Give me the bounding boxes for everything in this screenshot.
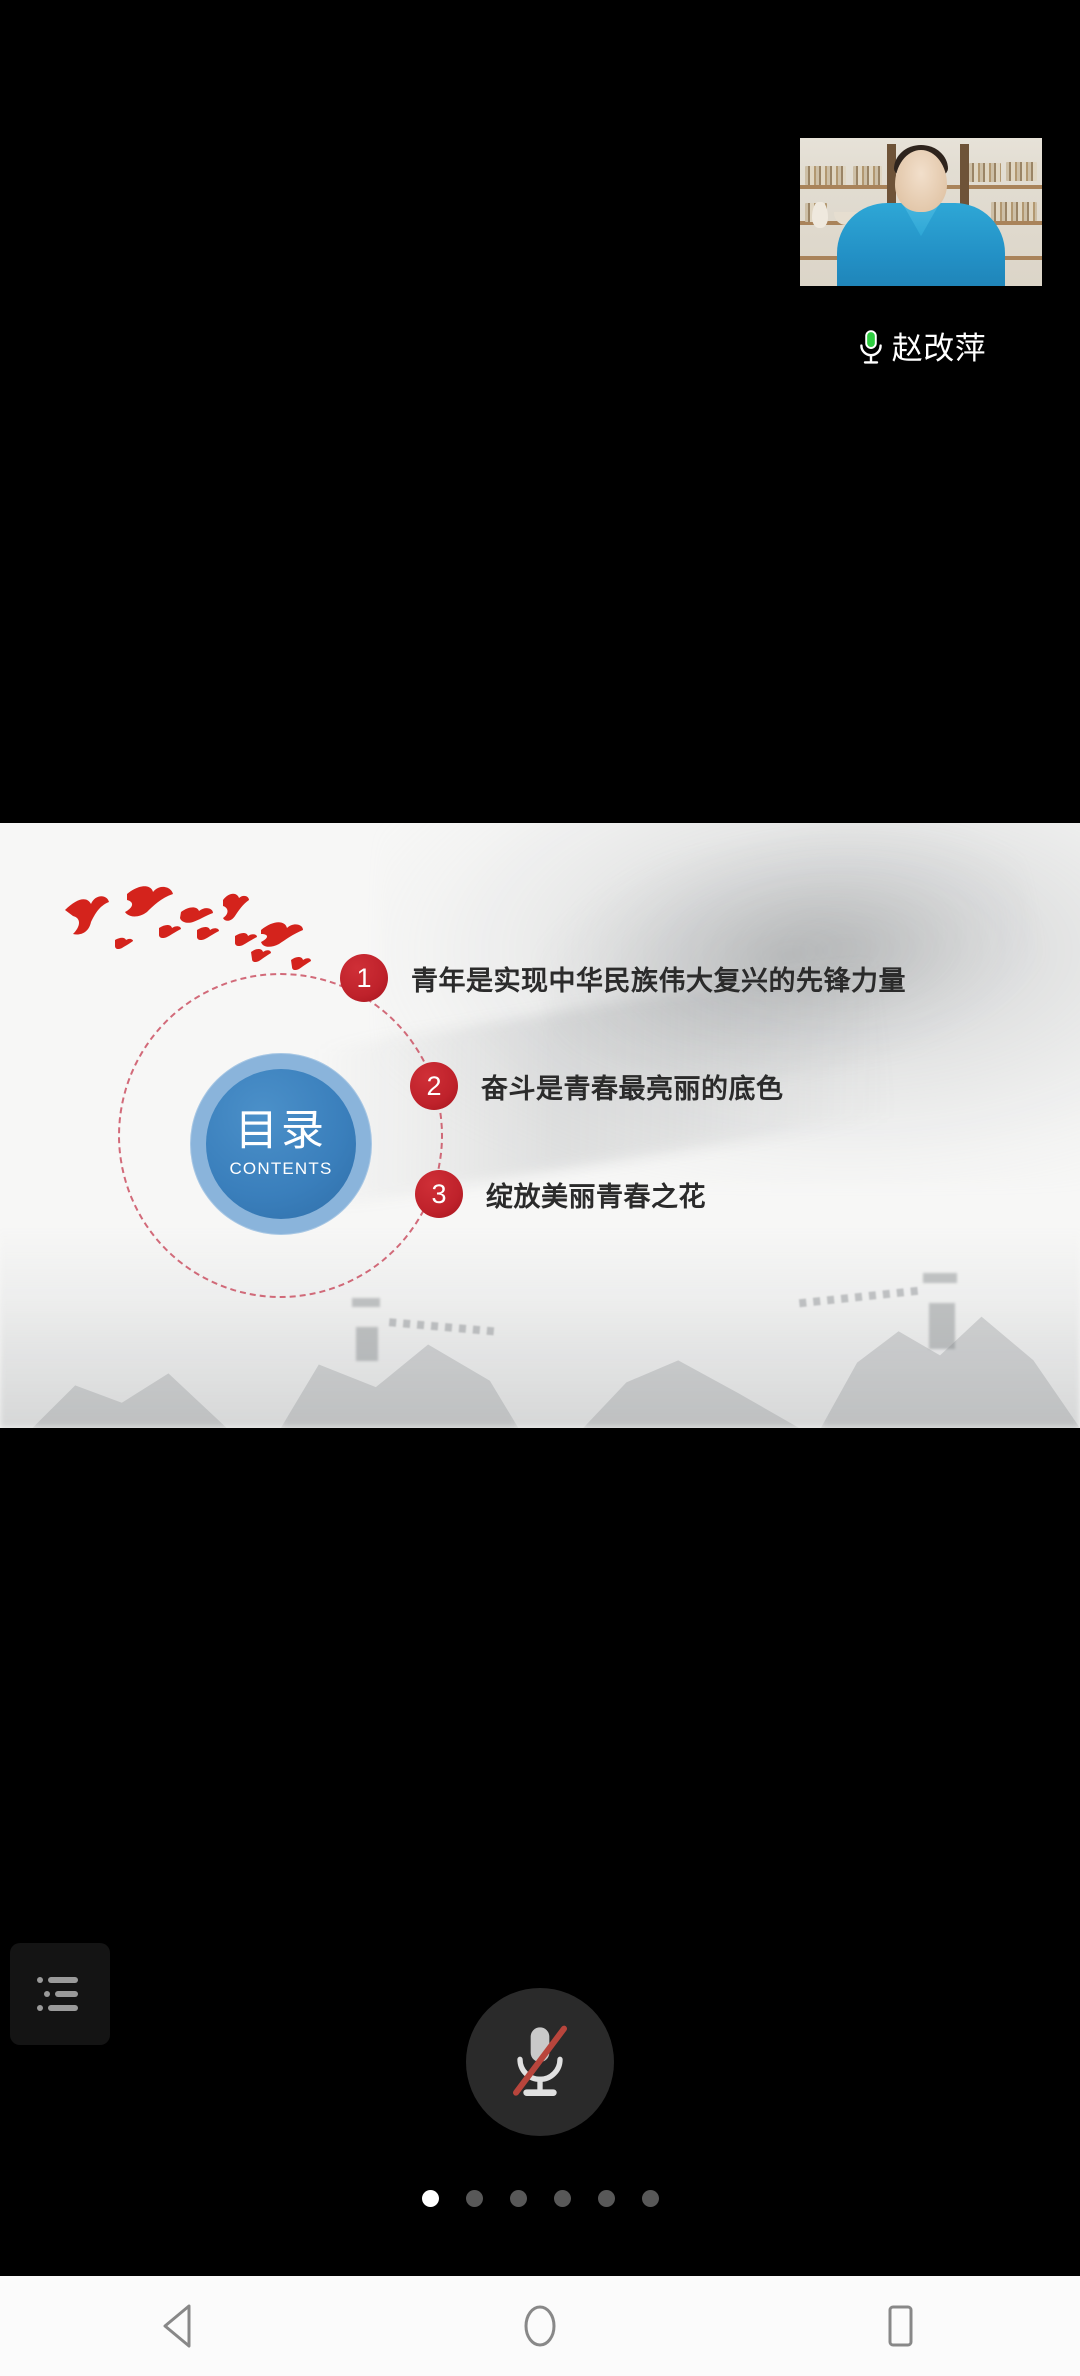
pagination-dot[interactable] [422, 2190, 439, 2207]
android-navigation-bar [0, 2276, 1080, 2376]
agenda-item-label: 绽放美丽青春之花 [486, 1175, 706, 1214]
recents-square-icon [878, 2302, 922, 2350]
agenda-list-button[interactable] [10, 1943, 110, 2045]
pagination-dot[interactable] [598, 2190, 615, 2207]
pagination-dot[interactable] [554, 2190, 571, 2207]
list-icon [35, 1972, 85, 2016]
agenda-item: 3 绽放美丽青春之花 [415, 1170, 706, 1218]
meeting-screen: 赵改萍 [0, 0, 1080, 2376]
home-circle-icon [518, 2302, 562, 2350]
agenda-item: 1 青年是实现中华民族伟大复兴的先锋力量 [340, 954, 906, 1002]
nav-back-button[interactable] [110, 2276, 250, 2376]
nav-recents-button[interactable] [830, 2276, 970, 2376]
agenda-item: 2 奋斗是青春最亮丽的底色 [410, 1062, 784, 1110]
pagination-dot[interactable] [466, 2190, 483, 2207]
microphone-muted-icon [508, 2023, 572, 2101]
agenda-item-label: 青年是实现中华民族伟大复兴的先锋力量 [411, 959, 906, 998]
back-triangle-icon [158, 2302, 202, 2350]
agenda-number-badge: 2 [410, 1062, 458, 1110]
pagination-dot[interactable] [642, 2190, 659, 2207]
agenda-number-badge: 1 [340, 954, 388, 1002]
nav-home-button[interactable] [470, 2276, 610, 2376]
slide-pagination[interactable] [0, 2190, 1080, 2207]
pagination-dot[interactable] [510, 2190, 527, 2207]
agenda-item-label: 奋斗是青春最亮丽的底色 [481, 1067, 784, 1106]
agenda-number-badge: 3 [415, 1170, 463, 1218]
microphone-toggle-button[interactable] [466, 1988, 614, 2136]
